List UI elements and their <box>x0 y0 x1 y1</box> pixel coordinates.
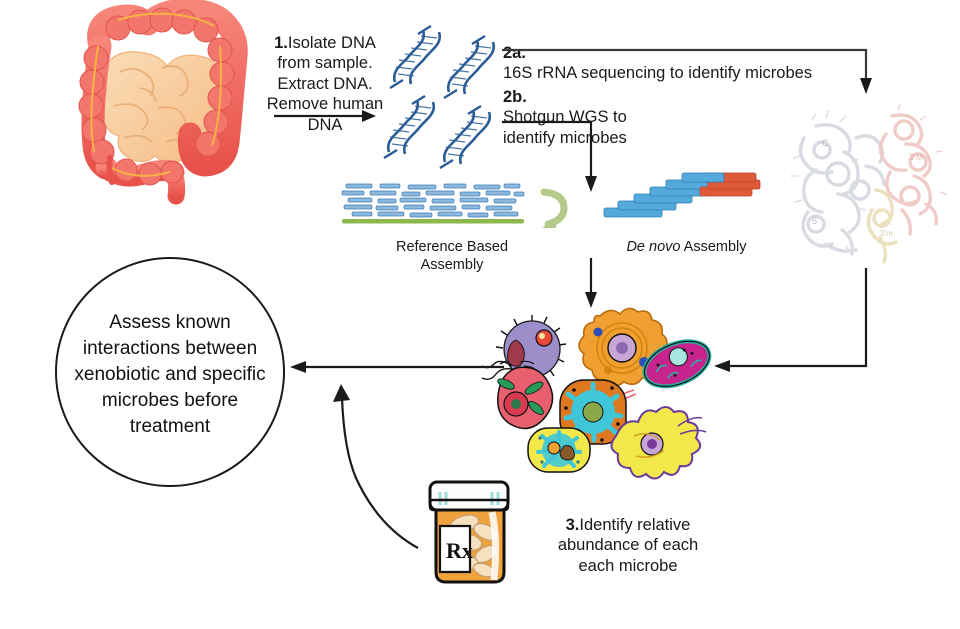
denovo-assembly-caption: De novo Assembly <box>604 238 769 256</box>
denovo-italic-label: De novo <box>626 239 680 255</box>
step-1-number: 1. <box>274 34 288 52</box>
outcome-circle-text: Assess known interactions between xenobi… <box>62 310 278 440</box>
dna-helices <box>383 14 503 164</box>
rrna-secondary-structure: C 5' 3'M 3'm <box>786 104 958 272</box>
intestine-illustration <box>62 2 258 188</box>
arrow-sample-to-dna <box>272 104 382 128</box>
pill-bottle-illustration: Rx <box>424 478 516 588</box>
step-2b-number: 2b. <box>503 88 527 106</box>
yellow-teal-round-cell <box>528 428 590 472</box>
rrna-label-3prime-minor: 3'm <box>880 229 893 238</box>
arrow-microbes-to-circle <box>286 356 506 378</box>
arrow-assembly-to-microbes <box>580 258 602 310</box>
denovo-rest-label: Assembly <box>680 239 746 255</box>
arrow-reference-to-denovo <box>536 186 572 228</box>
step-3-text: 3.Identify relative abundance of each ea… <box>528 494 728 576</box>
rrna-label-5prime: 5' <box>812 216 819 226</box>
microbe-cluster <box>482 304 718 476</box>
reference-assembly-caption: Reference Based Assembly <box>382 238 522 274</box>
reference-based-assembly-graphic <box>342 182 524 224</box>
figure-canvas: 1.Isolate DNA from sample. Extract DNA. … <box>0 0 960 629</box>
rrna-label-c: C <box>822 138 829 148</box>
arrow-rrna-to-microbes <box>706 268 876 378</box>
step-3-number: 3. <box>566 516 580 534</box>
denovo-assembly-graphic <box>604 170 769 220</box>
rrna-label-3prime-major: 3'M <box>909 152 923 162</box>
arrow-drug-to-microbes <box>328 382 438 552</box>
step-3-body: Identify relative abundance of each each… <box>558 516 698 575</box>
pill-bottle-rx-label: Rx <box>446 538 473 563</box>
